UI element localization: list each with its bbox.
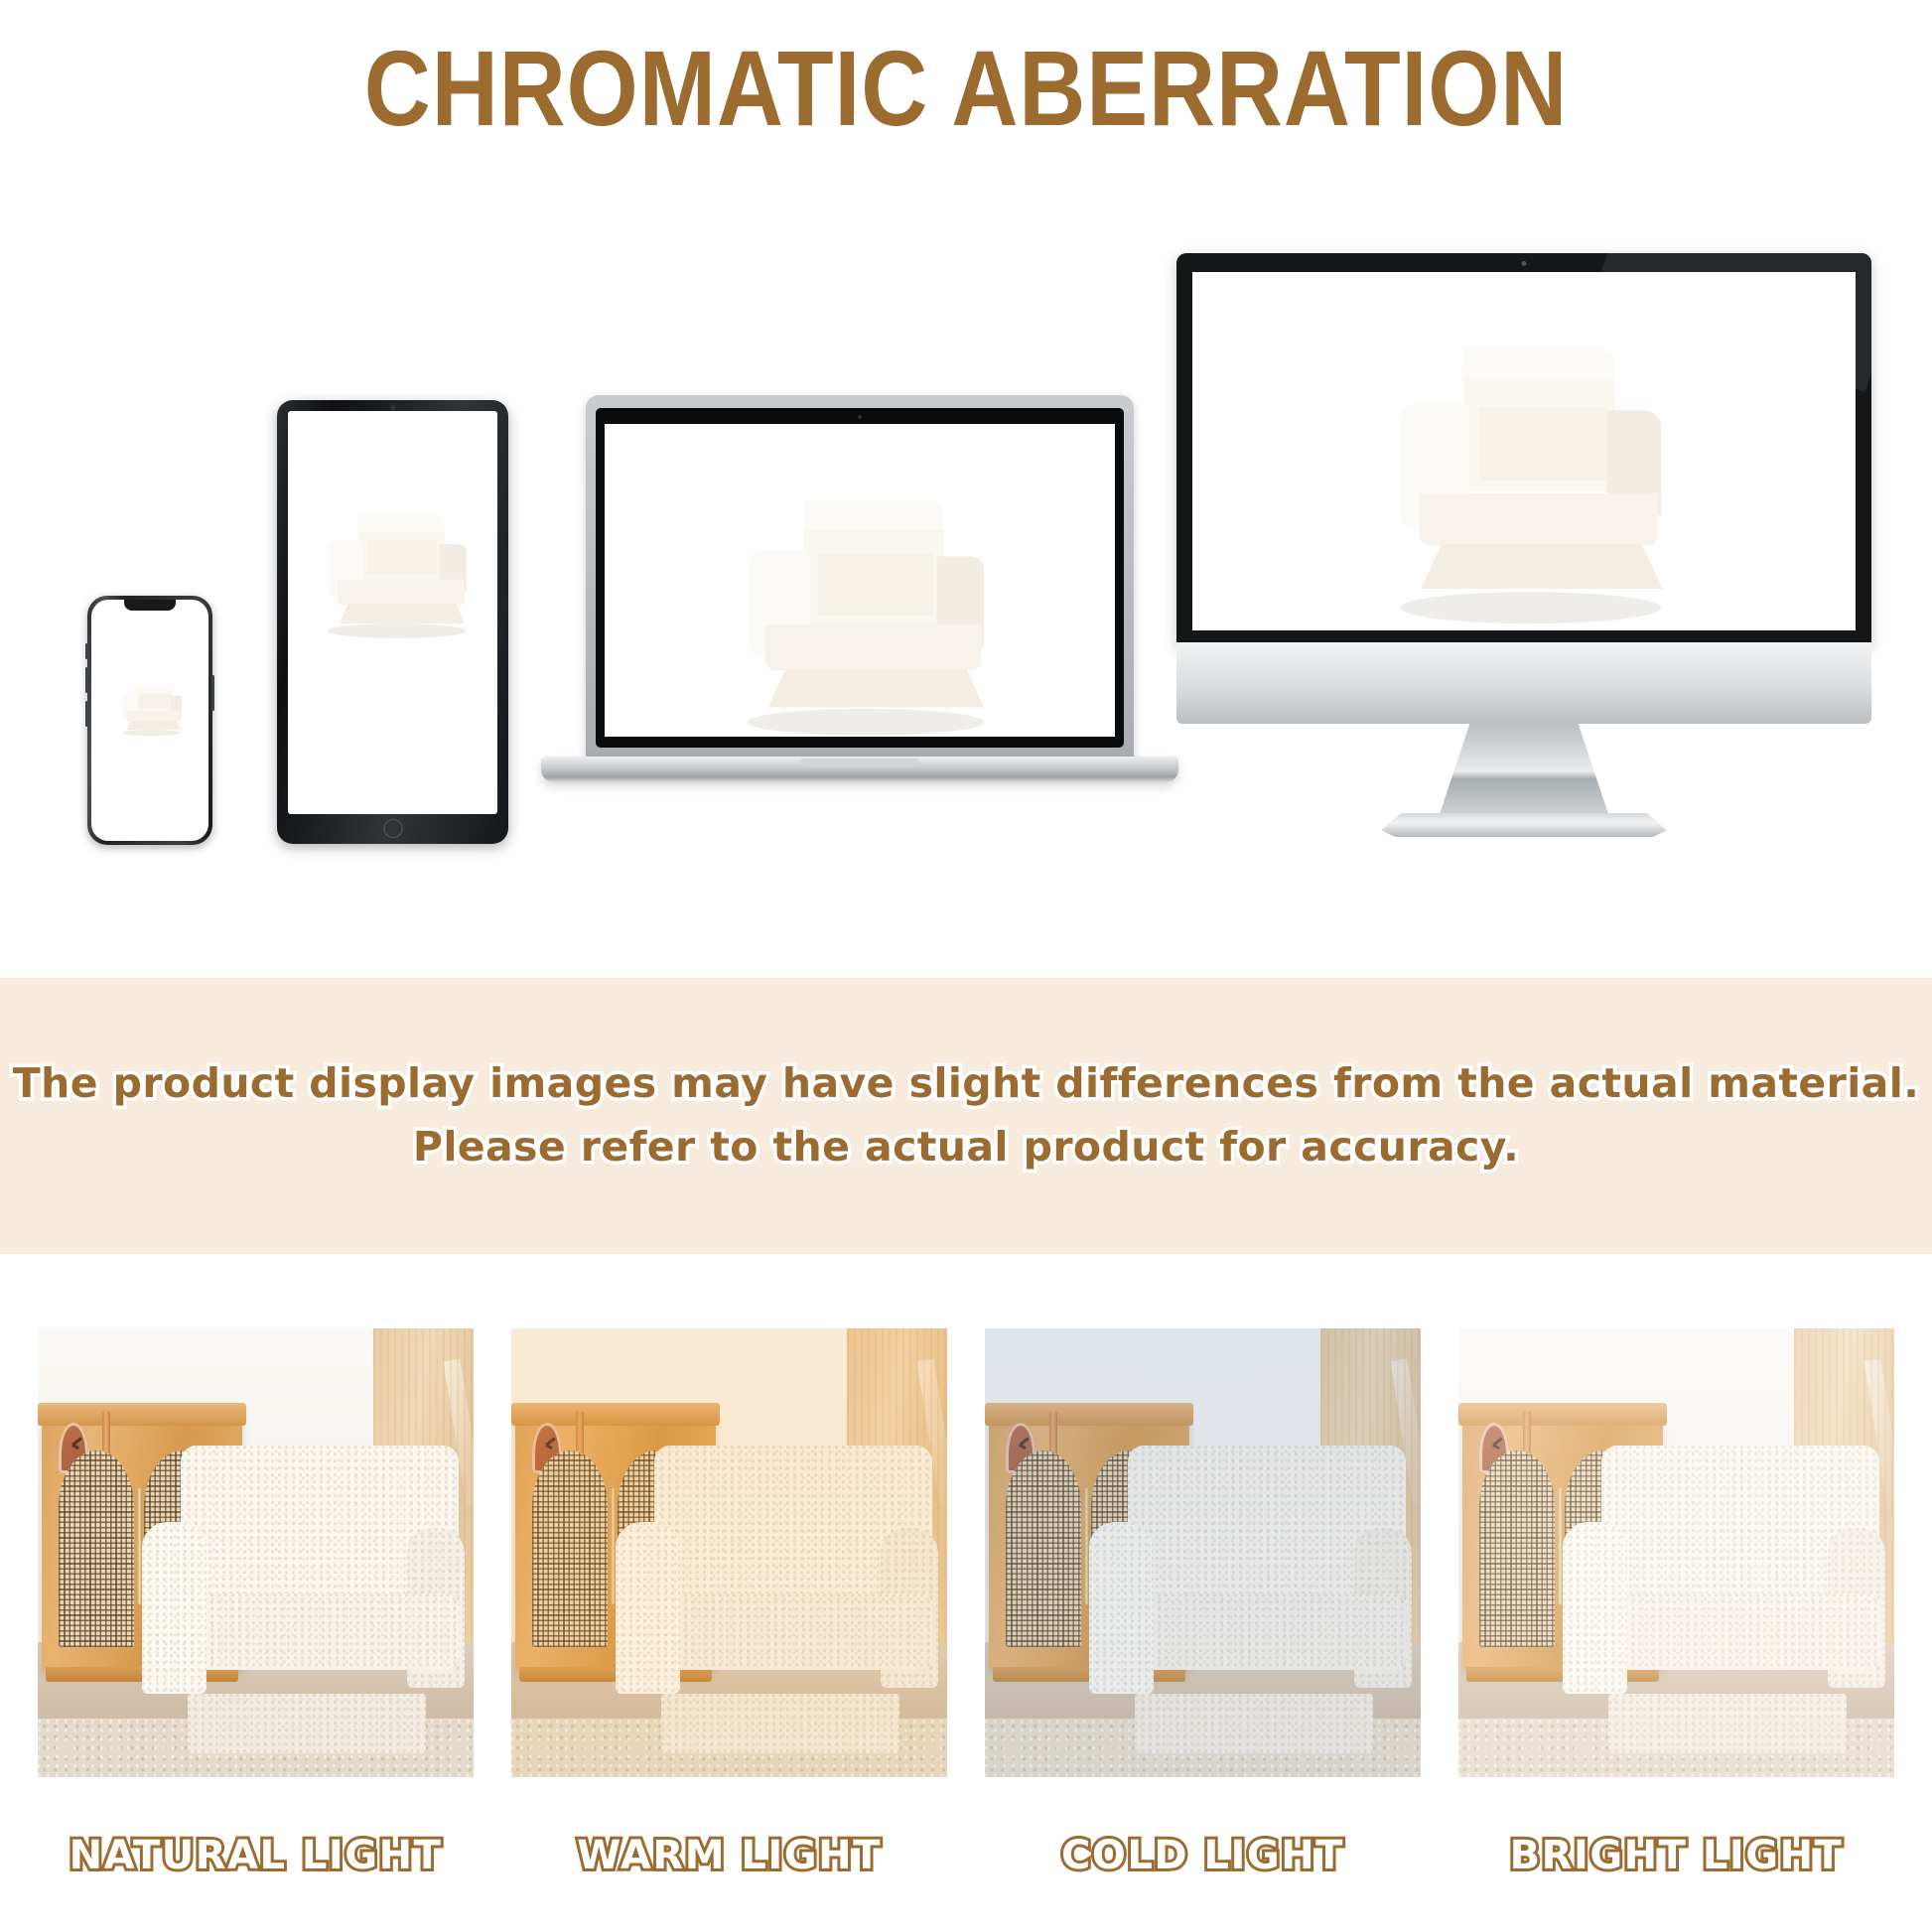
tablet-screen: [288, 411, 497, 814]
lighting-label-bright: BRIGHT LIGHT: [1510, 1833, 1844, 1878]
lighting-comparison-row: [38, 1328, 1894, 1777]
armchair-product-image: [712, 462, 1008, 699]
label-cell-bright: BRIGHT LIGHT: [1458, 1833, 1894, 1878]
lighting-tile-bright[interactable]: [1458, 1328, 1894, 1777]
monitor-screen: [1192, 272, 1856, 630]
laptop-bezel: [596, 408, 1124, 748]
tablet-home-button[interactable]: [383, 819, 402, 838]
lighting-label-natural: NATURAL LIGHT: [69, 1833, 443, 1878]
page-header: CHROMATIC ABERRATION: [0, 34, 1932, 143]
label-cell-warm: WARM LIGHT: [511, 1833, 947, 1878]
smartphone-body: [87, 596, 212, 845]
monitor-camera-icon: [1522, 261, 1527, 266]
smartphone-volume-up-button: [85, 667, 88, 693]
device-laptop: [541, 395, 1178, 847]
room-scene-bright: [1458, 1328, 1894, 1777]
smartphone-mute-switch: [85, 643, 88, 659]
smartphone-screen: [91, 600, 208, 841]
disclaimer-line-2: Please refer to the actual product for a…: [413, 1116, 1519, 1179]
armchair-photo: [142, 1446, 465, 1741]
device-desktop-monitor: [1176, 253, 1871, 849]
armchair-product-image: [110, 669, 190, 770]
smartphone-power-button: [211, 675, 214, 711]
lighting-label-row: NATURAL LIGHT WARM LIGHT COLD LIGHT BRIG…: [38, 1833, 1894, 1878]
tablet-body: [277, 400, 508, 844]
tablet-camera-icon: [390, 405, 395, 410]
label-cell-cold: COLD LIGHT: [985, 1833, 1421, 1878]
lighting-tile-natural[interactable]: [38, 1328, 474, 1777]
laptop-base: [541, 757, 1178, 782]
monitor-bezel: [1176, 253, 1871, 646]
room-scene-warm: [511, 1328, 947, 1777]
device-tablet: [277, 400, 508, 844]
lighting-tile-warm[interactable]: [511, 1328, 947, 1777]
lighting-label-warm: WARM LIGHT: [577, 1833, 882, 1878]
label-cell-natural: NATURAL LIGHT: [38, 1833, 474, 1878]
armchair-product-image: [1365, 312, 1684, 592]
device-showcase: [0, 253, 1932, 889]
monitor-stand-neck: [1425, 722, 1623, 817]
smartphone-volume-down-button: [85, 701, 88, 727]
smartphone-notch: [124, 600, 176, 611]
disclaimer-line-1: The product display images may have slig…: [13, 1052, 1919, 1116]
room-scene-cold: [985, 1328, 1421, 1777]
laptop-trackpad-notch: [801, 759, 918, 766]
disclaimer-banner: The product display images may have slig…: [0, 978, 1932, 1254]
laptop-lid: [586, 395, 1134, 759]
lighting-label-cold: COLD LIGHT: [1061, 1833, 1344, 1878]
armchair-product-image: [301, 483, 485, 673]
monitor-chin: [1176, 642, 1871, 724]
room-scene-natural: [38, 1328, 474, 1777]
laptop-camera-icon: [858, 415, 862, 419]
laptop-screen: [605, 424, 1115, 737]
device-smartphone: [87, 596, 212, 845]
monitor-stand-foot: [1381, 813, 1667, 837]
lighting-tile-cold[interactable]: [985, 1328, 1421, 1777]
page-title: CHROMATIC ABERRATION: [135, 34, 1797, 143]
